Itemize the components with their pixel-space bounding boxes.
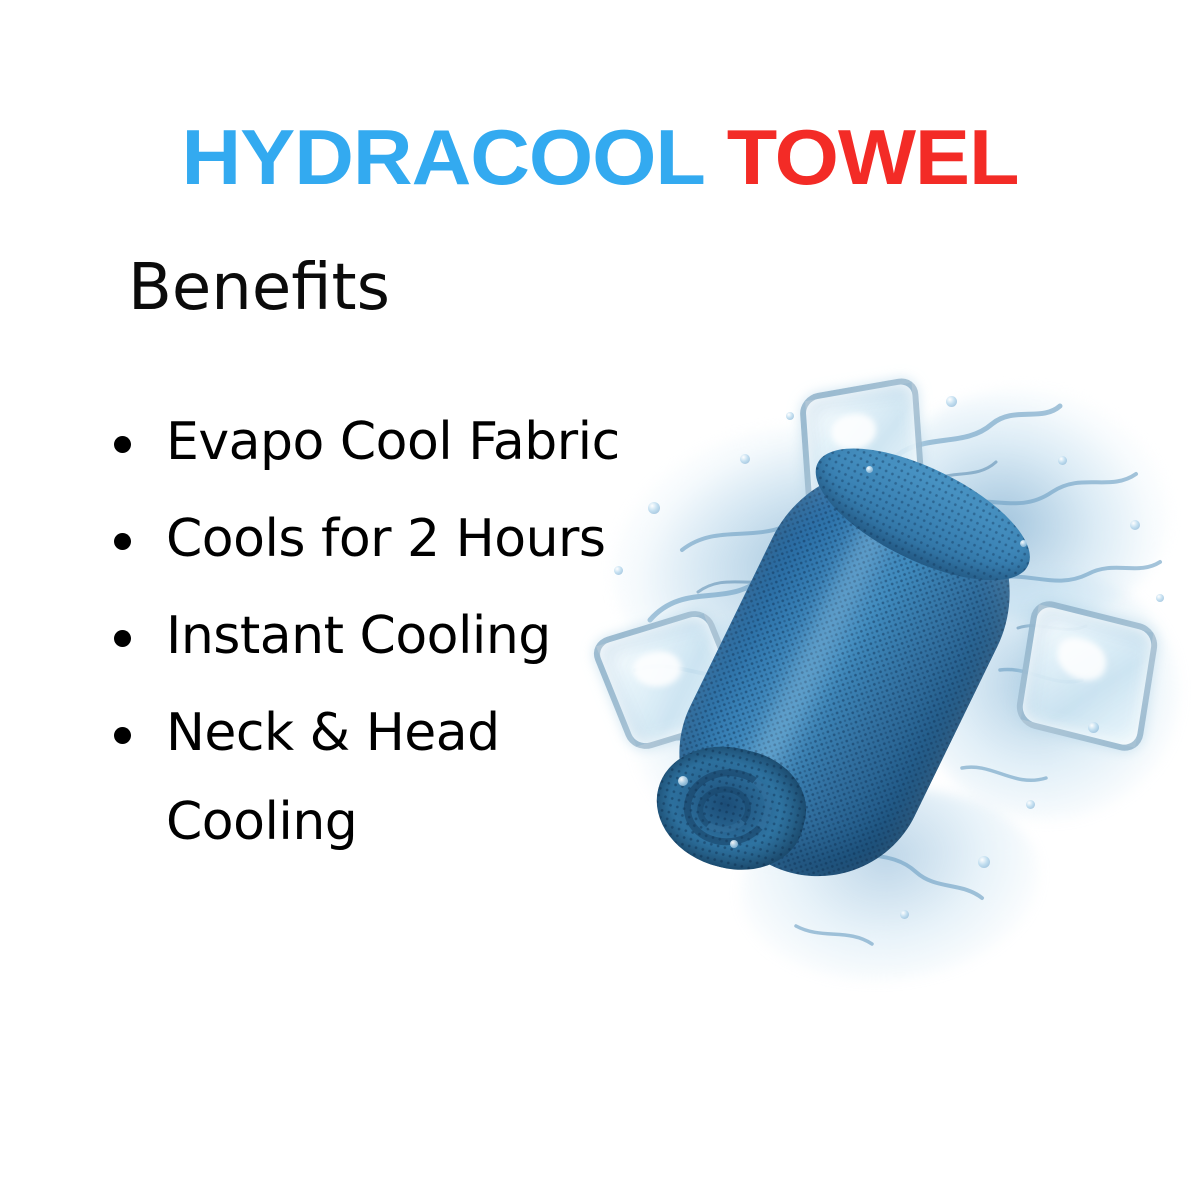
benefits-list: Evapo Cool Fabric Cools for 2 Hours Inst… bbox=[108, 398, 668, 875]
water-droplet bbox=[1088, 722, 1099, 733]
product-scene-inner bbox=[590, 370, 1190, 980]
water-droplet bbox=[648, 502, 660, 514]
water-droplet bbox=[786, 412, 794, 420]
water-droplet bbox=[678, 776, 688, 786]
bullet-dot-icon bbox=[114, 727, 131, 744]
list-item-label: Evapo Cool Fabric bbox=[166, 412, 620, 472]
product-image bbox=[590, 370, 1190, 980]
list-item-label: Cools for 2 Hours bbox=[166, 509, 606, 569]
list-item-label: Instant Cooling bbox=[166, 606, 551, 666]
list-item: Evapo Cool Fabric bbox=[108, 398, 668, 487]
water-droplet bbox=[866, 466, 873, 473]
list-item: Neck & Head Cooling bbox=[108, 689, 668, 867]
bullet-dot-icon bbox=[114, 533, 131, 550]
water-droplet bbox=[978, 856, 990, 868]
title-word-hydracool: HYDRACOOL bbox=[182, 113, 705, 201]
water-droplet bbox=[900, 910, 909, 919]
water-droplet bbox=[1156, 594, 1164, 602]
list-item-label: Neck & Head Cooling bbox=[166, 703, 500, 852]
water-droplet bbox=[614, 566, 623, 575]
list-item: Instant Cooling bbox=[108, 592, 668, 681]
water-droplet bbox=[1130, 520, 1140, 530]
list-item: Cools for 2 Hours bbox=[108, 495, 668, 584]
water-droplet bbox=[1026, 800, 1035, 809]
water-droplet bbox=[740, 454, 750, 464]
water-droplet bbox=[730, 840, 738, 848]
bullet-dot-icon bbox=[114, 436, 131, 453]
water-droplet bbox=[946, 396, 957, 407]
bullet-dot-icon bbox=[114, 630, 131, 647]
page-title: HYDRACOOL TOWEL bbox=[0, 118, 1200, 196]
water-droplet bbox=[1058, 456, 1067, 465]
title-word-towel: TOWEL bbox=[727, 113, 1019, 201]
water-droplet bbox=[1020, 540, 1027, 547]
poster-canvas: HYDRACOOL TOWEL Benefits Evapo Cool Fabr… bbox=[0, 0, 1200, 1200]
benefits-heading: Benefits bbox=[128, 256, 390, 320]
